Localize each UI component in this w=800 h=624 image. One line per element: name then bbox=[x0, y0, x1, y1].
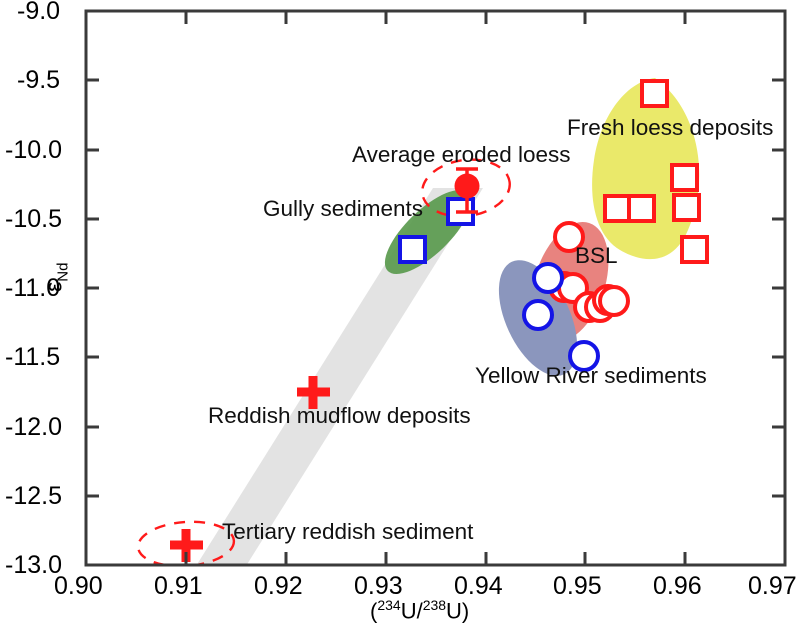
x-axis-label: (234U/238U) bbox=[370, 597, 469, 624]
axes-frame bbox=[86, 11, 785, 565]
y-axis-label-epsilon: ε bbox=[41, 282, 67, 292]
annotation-yellow-river-sediments: Yellow River sediments bbox=[475, 363, 707, 389]
annotation-average-eroded-loess: Average eroded loess bbox=[352, 142, 571, 168]
marker-square-red bbox=[674, 195, 699, 220]
x-axis-label-sup-238: 238 bbox=[423, 597, 446, 613]
x-tick-label: 0.95 bbox=[553, 572, 602, 601]
y-tick-label: -11.5 bbox=[5, 343, 60, 372]
annotation-bsl: BSL bbox=[575, 243, 618, 269]
annotation-fresh-loess-deposits: Fresh loess deposits bbox=[567, 115, 773, 141]
x-tick-label: 0.92 bbox=[254, 572, 303, 601]
marker-filled-circle-red bbox=[455, 174, 480, 199]
marker-square-red bbox=[629, 196, 654, 221]
annotation-tertiary-reddish-sediment: Tertiary reddish sediment bbox=[222, 519, 473, 545]
marker-square-red bbox=[672, 165, 697, 190]
marker-circle-red bbox=[600, 287, 628, 315]
x-tick-label: 0.90 bbox=[54, 572, 103, 601]
marker-square-blue bbox=[400, 237, 425, 262]
scatter-plot-figure: -9.0 -9.5 -10.0 -10.5 -11.0 -11.5 -12.0 … bbox=[0, 0, 800, 623]
marker-circle-blue bbox=[534, 264, 562, 292]
y-tick-label: -9.0 bbox=[17, 0, 60, 26]
axis-ticks bbox=[86, 11, 785, 565]
x-tick-label: 0.91 bbox=[154, 572, 203, 601]
y-axis-label: εNd bbox=[41, 217, 72, 337]
annotation-reddish-mudflow-deposits: Reddish mudflow deposits bbox=[208, 403, 471, 429]
marker-square-red bbox=[642, 81, 667, 106]
x-tick-label: 0.96 bbox=[653, 572, 702, 601]
x-axis-label-sup-234: 234 bbox=[377, 597, 400, 613]
marker-circle-blue bbox=[524, 301, 552, 329]
annotation-gully-sediments: Gully sediments bbox=[263, 196, 423, 222]
y-tick-label: -9.5 bbox=[17, 66, 60, 95]
y-tick-label: -10.0 bbox=[5, 136, 62, 165]
y-axis-label-subscript: Nd bbox=[54, 263, 71, 282]
y-tick-label: -12.5 bbox=[5, 482, 62, 511]
x-tick-label: 0.97 bbox=[748, 572, 797, 601]
y-tick-label: -12.0 bbox=[5, 413, 62, 442]
marker-square-red bbox=[682, 237, 707, 262]
marker-square-red bbox=[605, 196, 630, 221]
